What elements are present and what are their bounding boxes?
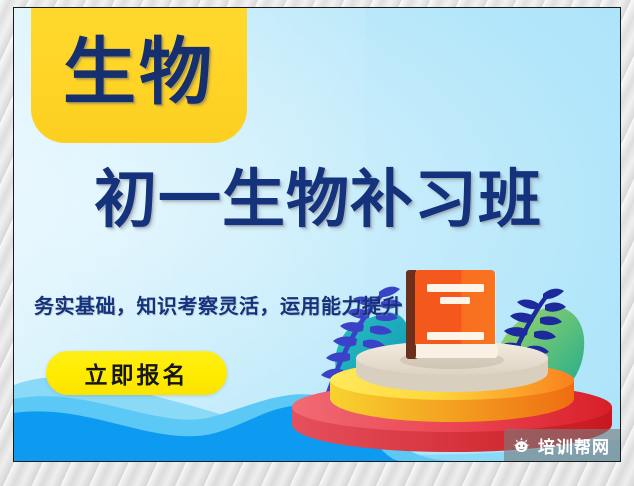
book-pages — [410, 272, 496, 358]
wave-mid-shape — [14, 394, 457, 461]
podium-top — [356, 341, 548, 392]
book-label-line-2 — [440, 297, 470, 304]
subject-badge-label: 生物 — [63, 36, 215, 113]
leaf-blob-right — [493, 307, 584, 404]
book-cover — [415, 270, 495, 355]
sun-face-icon — [512, 436, 531, 455]
wave-dark-shape — [14, 405, 401, 461]
book-page-edge — [408, 344, 498, 358]
enroll-now-button[interactable]: 立即报名 — [46, 351, 227, 395]
subject-badge: 生物 — [31, 7, 247, 143]
book-label-line-1 — [427, 284, 484, 292]
page-backdrop: 生物 — [0, 0, 634, 486]
podium-middle — [330, 360, 574, 422]
watermark: 培训帮网 — [504, 429, 620, 461]
book-spine-foot — [406, 343, 416, 359]
leaf-fern-right — [483, 289, 566, 412]
book-label-line-3 — [427, 332, 484, 340]
book-spine — [406, 270, 418, 359]
page-title: 初一生物补习班 — [30, 168, 606, 231]
poster-card: 生物 — [13, 7, 621, 462]
subtitle-text: 务实基础，知识考察灵活，运用能力提升 — [34, 296, 403, 316]
watermark-text: 培训帮网 — [538, 433, 610, 458]
book — [400, 270, 504, 369]
leaf-blob-left — [335, 312, 410, 389]
